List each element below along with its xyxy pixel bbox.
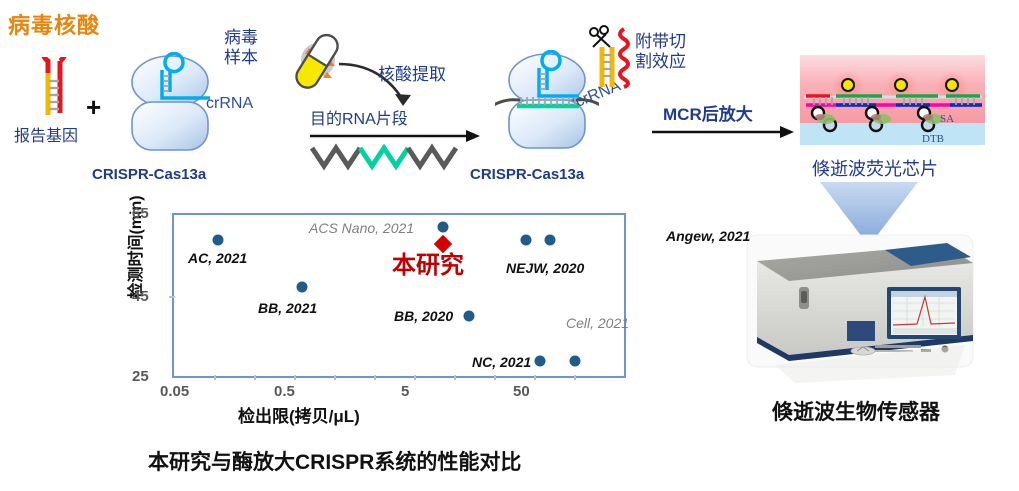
label-this-study: 本研究 xyxy=(392,253,464,279)
data-point-acs-nano-2021[interactable] xyxy=(438,222,449,233)
plus-sign: + xyxy=(86,92,101,123)
chart-plot-area: AC, 2021 BB, 2021 ACS Nano, 2021 本研究 BB,… xyxy=(172,213,626,378)
data-point-bb-2021[interactable] xyxy=(297,282,308,293)
data-point-nc-2021[interactable] xyxy=(535,356,546,367)
data-point-ac-2021[interactable] xyxy=(213,235,224,246)
reporter-gene-hairpin xyxy=(30,57,78,119)
viral-nucleic-acid-badge: 病毒核酸 xyxy=(8,8,100,40)
label-nc-2021: NC, 2021 xyxy=(472,355,531,370)
cas13a-label-2: CRISPR-Cas13a xyxy=(470,166,584,183)
data-point-angew-2021[interactable] xyxy=(545,235,556,246)
data-point-this-study[interactable] xyxy=(434,235,452,253)
mcr-arrow xyxy=(650,124,798,142)
data-point-cell-2021[interactable] xyxy=(570,356,581,367)
virus-sample-line-1: 病毒 xyxy=(224,28,258,48)
virus-sample-label: 病毒 样本 xyxy=(224,28,258,67)
dtb-label: DTB xyxy=(922,133,944,145)
label-ac-2021: AC, 2021 xyxy=(188,251,247,266)
performance-comparison-chart: 检测时间(min) 65 45 25 AC, 2021 BB, 2021 ACS… xyxy=(88,205,648,390)
x-tick-0-05: 0.05 xyxy=(160,383,189,400)
collateral-cleavage-icon xyxy=(588,25,640,97)
chip-caption: 倏逝波荧光芯片 xyxy=(812,155,938,181)
x-tick-50: 50 xyxy=(513,383,530,400)
collateral-line-2: 割效应 xyxy=(635,52,686,72)
sa-label: SA xyxy=(940,113,954,125)
evanescent-wave-biosensor-instrument xyxy=(735,225,985,390)
evanescent-wave-chip xyxy=(800,55,985,145)
target-rna-strand xyxy=(308,128,486,172)
virus-sample-line-2: 样本 xyxy=(224,48,258,68)
crrna-label-1: crRNA xyxy=(206,95,253,113)
figure-caption: 本研究与酶放大CRISPR系统的性能对比 xyxy=(148,446,521,476)
cas13a-label-1: CRISPR-Cas13a xyxy=(92,166,206,183)
instrument-caption: 倏逝波生物传感器 xyxy=(772,396,940,426)
label-angew-2021: Angew, 2021 xyxy=(666,229,726,244)
label-bb-2021: BB, 2021 xyxy=(258,301,317,316)
collateral-cleavage-label: 附带切 割效应 xyxy=(635,32,686,73)
mcr-amplification-label: MCR后放大 xyxy=(663,100,753,125)
data-point-bb-2020[interactable] xyxy=(464,311,475,322)
x-tick-5: 5 xyxy=(401,383,409,400)
label-cell-2021: Cell, 2021 xyxy=(566,316,629,331)
label-bb-2020: BB, 2020 xyxy=(394,309,453,324)
target-rna-label: 目的RNA片段 xyxy=(310,105,408,129)
data-point-nejw-2020[interactable] xyxy=(521,235,532,246)
collateral-line-1: 附带切 xyxy=(635,32,686,52)
label-nejw-2020: NEJW, 2020 xyxy=(506,261,584,276)
label-acs-nano-2021: ACS Nano, 2021 xyxy=(309,221,414,236)
nucleic-acid-extraction-label: 核酸提取 xyxy=(378,60,446,85)
reporter-gene-label: 报告基因 xyxy=(14,122,78,146)
x-tick-0-5: 0.5 xyxy=(274,383,295,400)
chart-x-axis-label: 检出限(拷贝/μL) xyxy=(238,402,360,427)
